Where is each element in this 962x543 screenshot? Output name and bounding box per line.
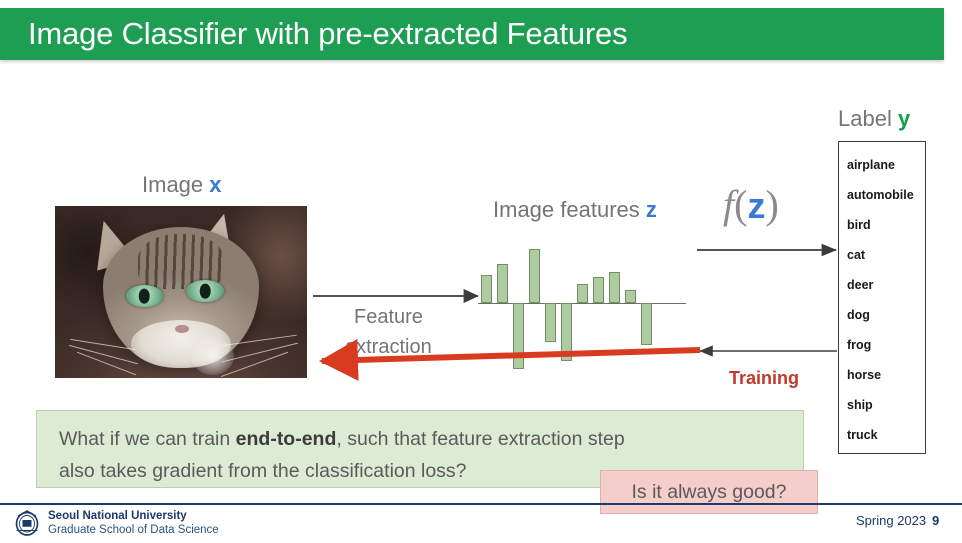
footer-org-line1: Seoul National University bbox=[48, 509, 219, 523]
footer-organization: Seoul National University Graduate Schoo… bbox=[48, 509, 219, 537]
class-label-item: truck bbox=[847, 420, 925, 450]
slide-canvas: Image Classifier with pre-extracted Feat… bbox=[0, 0, 962, 543]
snu-logo-icon bbox=[12, 508, 42, 538]
label-y-heading: Label y bbox=[838, 106, 910, 132]
green-callout-line1-bold: end-to-end bbox=[236, 428, 337, 450]
image-features-label-text: Image features bbox=[493, 197, 646, 222]
class-label-item: automobile bbox=[847, 180, 925, 210]
photo-foreground-blur bbox=[191, 337, 234, 375]
green-callout-line1-pre: What if we can train bbox=[59, 428, 236, 450]
label-y-heading-text: Label bbox=[838, 106, 898, 131]
feature-bar bbox=[641, 303, 652, 345]
page-title: Image Classifier with pre-extracted Feat… bbox=[28, 16, 627, 52]
feature-bar bbox=[545, 303, 556, 342]
class-label-item: frog bbox=[847, 330, 925, 360]
footer-divider bbox=[0, 503, 962, 505]
footer-page-number: 9 bbox=[932, 513, 939, 528]
feature-bar bbox=[593, 277, 604, 303]
pink-callout-box: Is it always good? bbox=[600, 470, 818, 514]
training-label: Training bbox=[729, 368, 799, 389]
image-features-label: Image features z bbox=[493, 197, 657, 223]
image-x-label-text: Image bbox=[142, 172, 209, 197]
class-label-item: horse bbox=[847, 360, 925, 390]
feature-bar bbox=[529, 249, 540, 303]
class-label-item: deer bbox=[847, 270, 925, 300]
input-image-photo bbox=[55, 206, 307, 378]
image-x-variable: x bbox=[209, 172, 221, 197]
class-label-item: bird bbox=[847, 210, 925, 240]
class-label-item: cat bbox=[847, 240, 925, 270]
cat-nose bbox=[175, 325, 189, 334]
slide-title-bar: Image Classifier with pre-extracted Feat… bbox=[0, 8, 944, 60]
image-features-variable: z bbox=[646, 197, 657, 222]
function-open-paren: ( bbox=[734, 182, 747, 227]
feature-bar bbox=[481, 275, 492, 303]
function-name: f bbox=[723, 182, 734, 227]
feature-bar bbox=[609, 272, 620, 303]
green-callout-line1: What if we can train end-to-end, such th… bbox=[59, 423, 785, 455]
footer-term: Spring 2023 bbox=[856, 513, 926, 528]
class-label-list: airplaneautomobilebirdcatdeerdogfroghors… bbox=[838, 141, 926, 454]
label-y-variable: y bbox=[898, 106, 910, 131]
cat-pupil-right bbox=[200, 284, 211, 299]
feature-bar bbox=[625, 290, 636, 303]
feature-bar bbox=[513, 303, 524, 369]
function-argument: z bbox=[747, 185, 765, 226]
feature-bar bbox=[497, 264, 508, 303]
cat-pupil-left bbox=[139, 289, 150, 304]
pink-callout-text: Is it always good? bbox=[631, 481, 786, 504]
feature-extraction-line2: extraction bbox=[345, 336, 432, 359]
classifier-function-notation: f(z) bbox=[723, 181, 779, 228]
feature-bar bbox=[577, 284, 588, 303]
feature-vector-bar-chart bbox=[478, 244, 686, 378]
chart-baseline-axis bbox=[478, 303, 686, 305]
feature-extraction-line1: Feature bbox=[354, 306, 423, 329]
green-callout-line1-post: , such that feature extraction step bbox=[336, 428, 624, 450]
class-label-item: ship bbox=[847, 390, 925, 420]
feature-bar bbox=[561, 303, 572, 362]
function-close-paren: ) bbox=[765, 182, 778, 227]
class-label-item: airplane bbox=[847, 150, 925, 180]
footer-org-line2: Graduate School of Data Science bbox=[48, 523, 219, 537]
cat-eye-right bbox=[186, 280, 224, 302]
class-label-item: dog bbox=[847, 300, 925, 330]
image-x-label: Image x bbox=[142, 172, 222, 198]
